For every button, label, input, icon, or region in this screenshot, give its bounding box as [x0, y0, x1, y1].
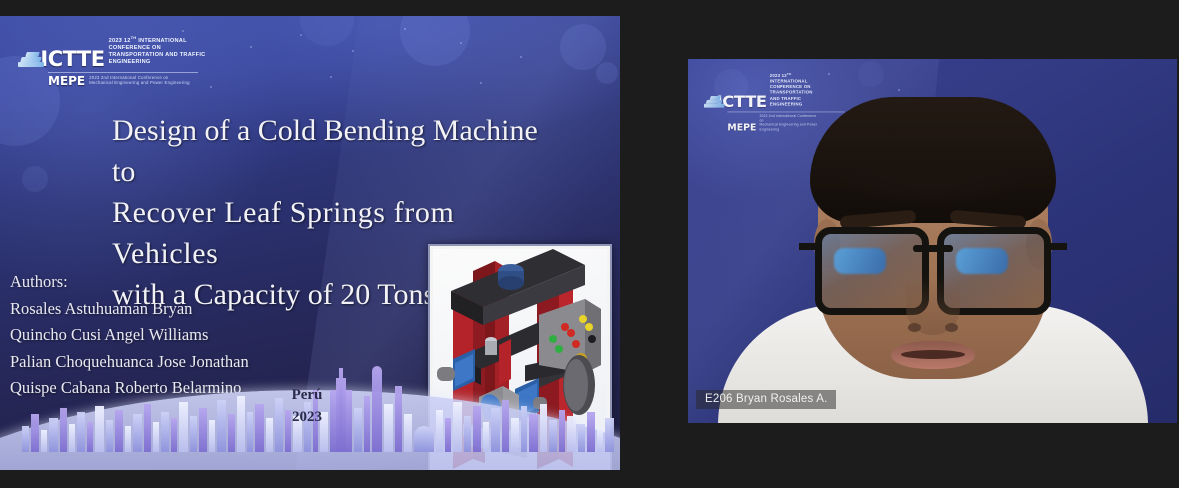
participant-name-label: E206 Bryan Rosales A. [696, 390, 836, 409]
meeting-stage: ICTTE 2023 12th INTERNATIONAL CONFERENCE… [0, 0, 1179, 488]
face [818, 101, 1048, 379]
glasses-bridge [913, 245, 953, 252]
mepe-line2: Mechanical Engineering and Power Enginee… [89, 80, 190, 86]
authors-heading: Authors: [10, 269, 249, 296]
ictte-wordmark: ICTTE [40, 50, 104, 69]
participant-video-tile[interactable]: ICTTE 2023 12th INTERNATIONAL CONFERENCE… [688, 59, 1177, 423]
bokeh-circle [22, 166, 48, 192]
glasses-temple-right [1051, 243, 1067, 250]
shared-slide[interactable]: ICTTE 2023 12th INTERNATIONAL CONFERENCE… [0, 16, 620, 470]
mepe-wordmark: MEPE [48, 76, 85, 87]
train-icon [18, 52, 36, 68]
author-item: Rosales Astuhuaman Bryan [10, 296, 249, 323]
nostril-left [908, 323, 921, 332]
ictte-ordinal: th [787, 72, 792, 76]
ictte-year: 2023 12 [770, 74, 787, 79]
bokeh-circle [596, 62, 618, 84]
train-icon [704, 96, 713, 108]
ictte-year: 2023 12 [109, 38, 131, 44]
glasses-temple-left [799, 243, 815, 250]
ictte-line2: TRANSPORTATION AND TRAFFIC ENGINEERING [109, 52, 208, 66]
title-line-1: Design of a Cold Bending Machine to [112, 110, 564, 192]
participant-webcam-image [723, 95, 1143, 423]
hair [810, 97, 1056, 223]
footer-country: Perú [272, 384, 342, 406]
footer-year: 2023 [272, 406, 342, 428]
logo-divider [48, 72, 198, 73]
author-item: Palian Choquehuanca Jose Jonathan [10, 349, 249, 376]
author-item: Quispe Cabana Roberto Belarmino [10, 375, 249, 402]
slide-footer: Perú 2023 [272, 384, 342, 428]
mouth [891, 341, 975, 369]
nostril-right [945, 323, 958, 332]
conference-logo: ICTTE 2023 12th INTERNATIONAL CONFERENCE… [18, 34, 208, 87]
ictte-conference-lines: 2023 12th INTERNATIONAL CONFERENCE ON TR… [109, 34, 208, 69]
authors-block: Authors: Rosales Astuhuaman Bryan Quinch… [10, 269, 249, 402]
author-item: Quincho Cusi Angel Williams [10, 322, 249, 349]
mepe-conference-lines: 2023 2nd International Conference on Mec… [89, 75, 190, 87]
cold-bending-machine-3d-render [433, 249, 607, 470]
bokeh-circle [400, 16, 470, 66]
ictte-line1-rest: INTERNATIONAL CONFERENCE ON [770, 80, 811, 90]
bokeh-circle [300, 16, 354, 46]
bokeh-circle [560, 24, 606, 70]
machine-render-image [428, 244, 612, 470]
nose [906, 277, 960, 335]
